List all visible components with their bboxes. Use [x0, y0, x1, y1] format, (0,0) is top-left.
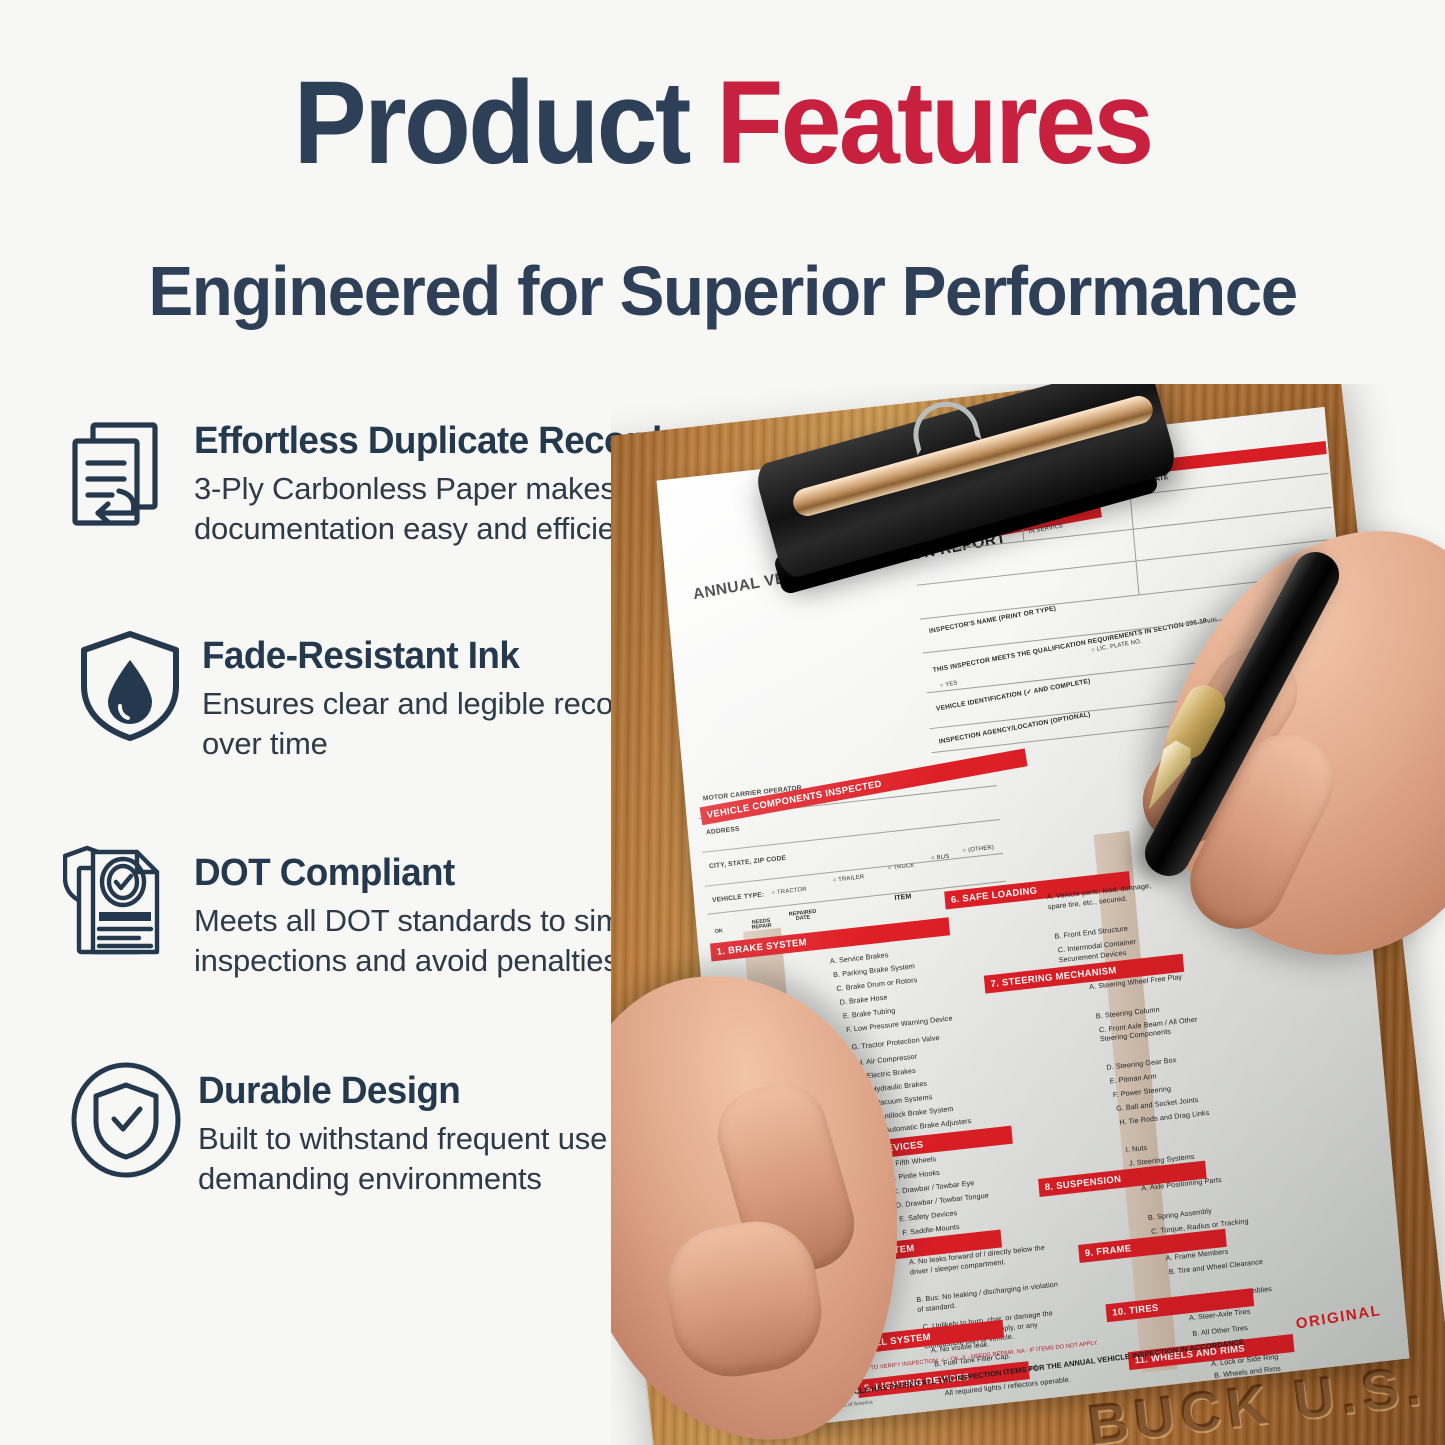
section-9-label: 9. FRAME — [1078, 1243, 1131, 1260]
product-photo: BUCK U.S. ANNUAL VEHICLE INSPECTION REPO… — [611, 384, 1445, 1445]
form-field-address: ADDRESS — [706, 826, 740, 837]
section-8-label: 8. SUSPENSION — [1038, 1173, 1121, 1193]
section-10-item-1: B. All Other Tires — [1192, 1323, 1248, 1338]
duplicate-documents-icon — [60, 408, 184, 532]
form-option-other-type[interactable]: ○ (OTHER) — [962, 845, 994, 854]
section-6-label: 6. SAFE LOADING — [944, 885, 1037, 906]
feature-item-dot-compliant: DOT Compliant Meets all DOT standards to… — [60, 840, 694, 980]
section-1-item-7: H. Air Compressor — [857, 1052, 918, 1068]
form-option-tractor[interactable]: ○ TRACTOR — [771, 887, 807, 897]
form-field-city-state-zip: CITY, STATE, ZIP CODE — [709, 855, 787, 870]
section-1-item-2: C. Brake Drum or Rotors — [836, 975, 918, 993]
form-option-trailer[interactable]: ○ TRAILER — [833, 874, 865, 883]
page-title-part2: Features — [716, 57, 1151, 189]
section-2-item-1: B. Pintle Hooks — [889, 1168, 940, 1183]
form-option-yes[interactable]: ○ YES — [939, 680, 958, 689]
feature-item-duplicate-records: Effortless Duplicate Records 3-Ply Carbo… — [60, 408, 697, 548]
page-title: Product Features — [51, 62, 1395, 186]
page-title-part1: Product — [294, 57, 717, 189]
section-10-label: 10. TIRES — [1106, 1302, 1159, 1319]
section-1-item-4: E. Brake Tubing — [842, 1006, 895, 1021]
feature-item-fade-resistant-ink: Fade-Resistant Ink Ensures clear and leg… — [68, 623, 702, 763]
circle-shield-check-icon — [64, 1058, 188, 1182]
col-header-item: ITEM — [894, 893, 911, 902]
section-1-item-0: A. Service Brakes — [830, 950, 889, 965]
col-header-ok: OK — [715, 928, 724, 935]
form-field-inspection-agency: INSPECTION AGENCY/LOCATION (OPTIONAL) — [939, 711, 1091, 745]
form-field-vehicle-type: VEHICLE TYPE: — [712, 891, 765, 904]
document-shield-check-icon — [60, 840, 184, 964]
section-1-label: 1. BRAKE SYSTEM — [710, 936, 807, 958]
shield-ink-drop-icon — [68, 623, 192, 747]
section-1-item-6: G. Tractor Protection Valve — [851, 1033, 940, 1052]
page-subtitle: Engineered for Superior Performance — [29, 253, 1416, 330]
feature-title: DOT Compliant — [194, 854, 679, 894]
feature-item-durable-design: Durable Design Built to withstand freque… — [64, 1058, 698, 1198]
col-header-repaired-date: REPAIRED DATE — [786, 909, 821, 924]
original-stamp: ORIGINAL — [1295, 1302, 1382, 1333]
section-1-item-3: D. Brake Hose — [839, 992, 888, 1006]
section-2-item-4: E. Safety Devices — [899, 1208, 958, 1223]
feature-title: Effortless Duplicate Records — [194, 422, 682, 462]
